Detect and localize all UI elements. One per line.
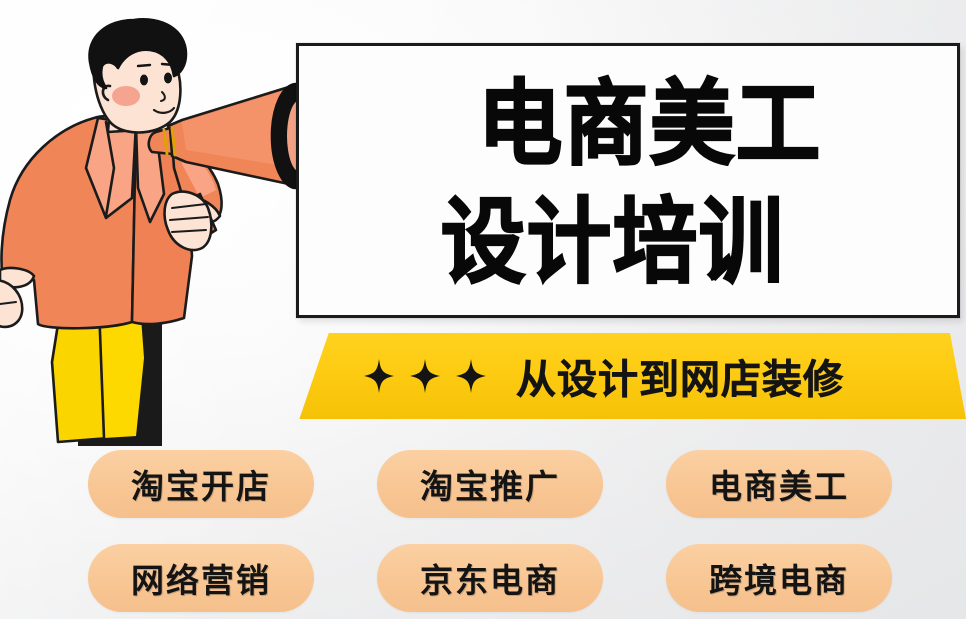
- sparkle-star-icon: [456, 359, 486, 393]
- subtitle-ribbon: 从设计到网店装修: [298, 333, 966, 419]
- ribbon-content: 从设计到网店装修: [298, 333, 966, 419]
- sparkle-star-icon: [410, 359, 440, 393]
- tag-label: 京东电商: [420, 554, 560, 602]
- page-title-line-2: 设计培训: [441, 195, 785, 287]
- tag-label: 电商美工: [709, 460, 849, 508]
- tag-pill-taobao-open-shop[interactable]: 淘宝开店: [88, 450, 314, 518]
- tag-label: 网络营销: [131, 554, 271, 602]
- tag-label: 跨境电商: [709, 554, 849, 602]
- title-box: 电商美工 设计培训: [296, 43, 960, 318]
- tag-pill-taobao-promotion[interactable]: 淘宝推广: [377, 450, 603, 518]
- tag-pill-cross-border-ecommerce[interactable]: 跨境电商: [666, 544, 892, 612]
- ribbon-star-group: [364, 359, 486, 393]
- tag-pill-ecommerce-design[interactable]: 电商美工: [666, 450, 892, 518]
- tag-pill-online-marketing[interactable]: 网络营销: [88, 544, 314, 612]
- tag-label: 淘宝开店: [131, 460, 271, 508]
- tag-label: 淘宝推广: [420, 460, 560, 508]
- page-title-line-1: 电商美工: [478, 77, 822, 169]
- tag-pill-jd-ecommerce[interactable]: 京东电商: [377, 544, 603, 612]
- person-with-megaphone-illustration: [0, 18, 316, 448]
- sparkle-star-icon: [364, 359, 394, 393]
- subtitle-text: 从设计到网店装修: [516, 347, 844, 405]
- course-tag-list: 淘宝开店 淘宝推广 电商美工 网络营销 京东电商 跨境电商: [88, 450, 888, 612]
- promo-banner: 电商美工 设计培训 从设计到网店装修 淘宝开店: [0, 0, 966, 619]
